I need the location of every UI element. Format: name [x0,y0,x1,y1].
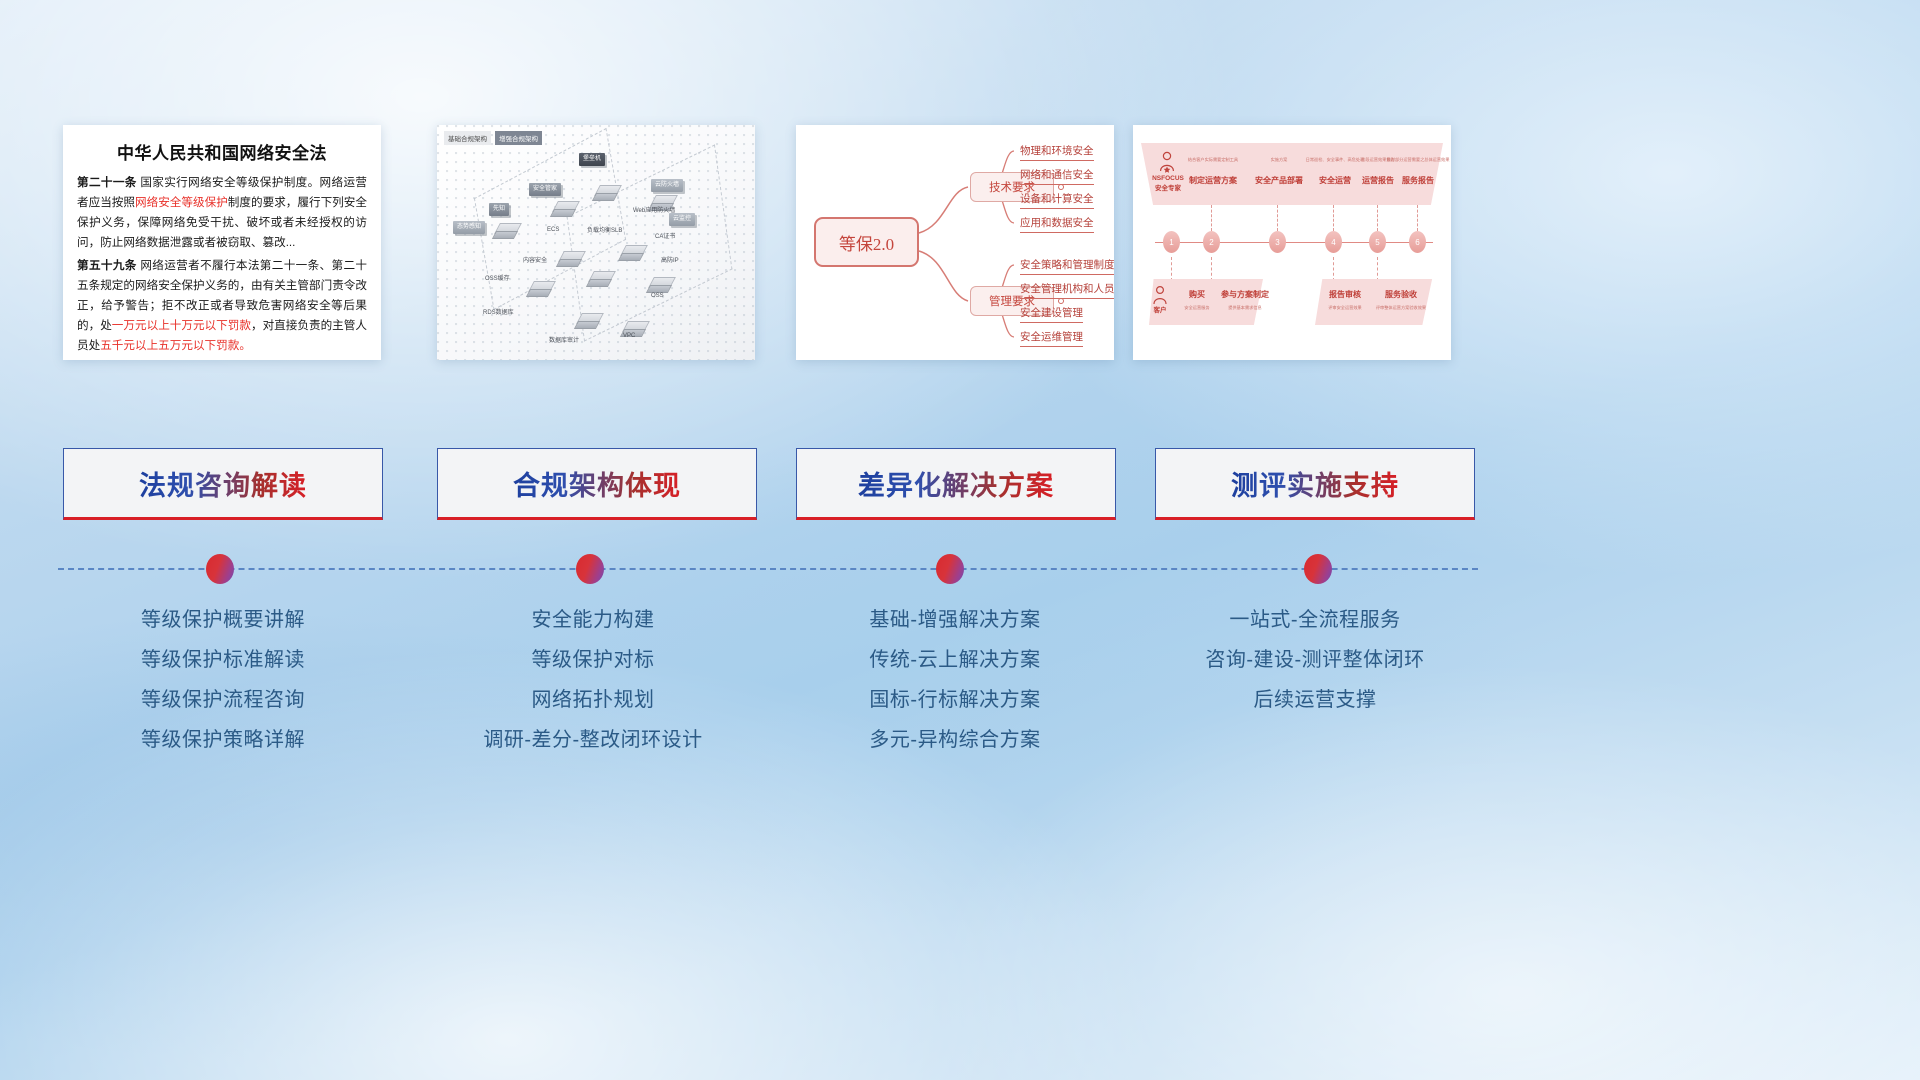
list-item: 多元-异构综合方案 [790,720,1120,760]
flow-stem-1 [1211,205,1212,231]
law-title: 中华人民共和国网络安全法 [77,139,367,164]
header-label: 法规咨询解读 [139,464,307,503]
architecture-diagram: 基础合规架构 增强合规架构 堡垒机 安全管家 先知 态势感知 云防火墙 云监控 … [437,125,755,360]
architecture-tab-enhanced[interactable]: 增强合规架构 [495,131,542,145]
list-item: 安全能力构建 [423,600,763,640]
flow-step-marker-6: 6 [1409,231,1426,253]
mindmap-leaf-application-data: 应用和数据安全 [1020,215,1094,233]
timeline-dot-1[interactable] [206,554,234,584]
timeline-dot-3[interactable] [936,554,964,584]
architecture-node-cloud-firewall: 云防火墙 [651,179,683,192]
architecture-tab-basic[interactable]: 基础合规架构 [444,131,491,145]
detail-column-3: 基础-增强解决方案 传统-云上解决方案 国标-行标解决方案 多元-异构综合方案 [790,600,1120,760]
list-item: 等级保护标准解读 [63,640,383,680]
flow-bottom-main-3: 报告审核 [1321,289,1369,300]
header-box-regulation-consulting[interactable]: 法规咨询解读 [63,448,383,520]
mindmap-leaf-construction-mgmt: 安全建设管理 [1020,305,1083,323]
mindmap-leaf-policy-system: 安全策略和管理制度 [1020,257,1114,275]
flow-bottom-sub-4: 评审整体运营方案验收效果 [1371,305,1431,311]
list-item: 咨询-建设-测评整体闭环 [1145,640,1485,680]
list-item: 等级保护流程咨询 [63,680,383,720]
architecture-node-security-butler: 安全管家 [529,183,561,196]
list-item: 国标-行标解决方案 [790,680,1120,720]
timeline-dot-2[interactable] [576,554,604,584]
architecture-label-gaofang-ip: 高防IP [661,255,679,264]
detail-column-4: 一站式-全流程服务 咨询-建设-测评整体闭环 后续运营支撑 [1145,600,1485,720]
flow-step-marker-2: 2 [1203,231,1220,253]
section-header-row: 法规咨询解读 合规架构体现 差异化解决方案 测评实施支持 [0,448,1920,520]
list-item: 等级保护对标 [423,640,763,680]
mindmap-leaf-ops-mgmt: 安全运维管理 [1020,329,1083,347]
flow-step-main-5: 服务报告 [1385,175,1451,186]
card-mbl-mindmap: 等保2.0 技术要求 物理和环境安全 网络和通信安全 设备和计算安全 应用和数据… [796,125,1114,360]
architecture-label-oss-cache: OSS缓存 [485,273,510,282]
architecture-node-xianzhi: 先知 [489,203,509,216]
law-paragraph-21: 第二十一条 国家实行网络安全等级保护制度。网络运营者应当按照网络安全等级保护制度… [77,173,367,253]
list-item: 后续运营支撑 [1145,680,1485,720]
timeline-dashed-line [58,568,1478,570]
flow-stem-2 [1277,205,1278,231]
architecture-label-ca: CA证书 [655,231,675,240]
architecture-label-waf: Web应用防火墙 [633,205,675,214]
flow-band-review [1315,279,1437,325]
illustration-card-row: 中华人民共和国网络安全法 第二十一条 国家实行网络安全等级保护制度。网络运营者应… [0,125,1920,365]
nsfocus-flow-diagram: NSFOCUS 安全专家 结合客户实际需要定制工具 制定运营方案 实施方案 安全… [1133,125,1451,360]
architecture-cube-5 [561,251,583,269]
architecture-cube-2 [497,223,519,241]
list-item: 调研-差分-整改闭环设计 [423,720,763,760]
flow-band-expert [1141,143,1443,205]
customer-label: 客户 [1143,307,1177,315]
flow-step-sub-5: 临时部分运营需要之总体运营效果 [1381,157,1451,163]
flow-step-marker-4: 4 [1325,231,1342,253]
law-article-label: 第二十一条 [77,176,137,189]
mindmap-leaf-org-personnel: 安全管理机构和人员 [1020,281,1114,299]
flow-stem-6 [1171,257,1172,281]
timeline [0,552,1920,592]
flow-stem-4 [1377,205,1378,231]
law-run-highlight: 一万元以上十万元以下罚款 [112,319,251,332]
architecture-cube-8 [623,245,645,263]
flow-stem-9 [1377,257,1378,281]
customer-person-icon [1151,285,1169,307]
flow-step-main-1: 制定运营方案 [1177,175,1249,186]
flow-stem-8 [1333,257,1334,281]
flow-bottom-main-4: 服务验收 [1377,289,1425,300]
law-paragraph-59: 第五十九条 网络运营者不履行本法第二十一条、第二十五条规定的网络安全保护义务的，… [77,256,367,356]
law-article-label: 第五十九条 [77,259,137,272]
architecture-cube-1 [555,201,577,219]
mindmap-leaf-physical-environment: 物理和环境安全 [1020,143,1094,161]
header-box-differentiated-solution[interactable]: 差异化解决方案 [796,448,1116,520]
flow-axis-line [1155,242,1433,243]
architecture-label-rds: RDS数据库 [483,307,514,316]
card-nsfocus-service-flow: NSFOCUS 安全专家 结合客户实际需要定制工具 制定运营方案 实施方案 安全… [1133,125,1451,360]
architecture-cube-7 [531,281,553,299]
flow-step-marker-3: 3 [1269,231,1286,253]
header-label: 测评实施支持 [1231,464,1399,503]
header-box-compliance-architecture[interactable]: 合规架构体现 [437,448,757,520]
card-compliance-architecture: 基础合规架构 增强合规架构 堡垒机 安全管家 先知 态势感知 云防火墙 云监控 … [437,125,755,360]
architecture-label-slb: 负载均衡SLB [587,225,622,234]
mindmap: 等保2.0 技术要求 物理和环境安全 网络和通信安全 设备和计算安全 应用和数据… [796,125,1114,360]
flow-step-sub-1: 结合客户实际需要定制工具 [1177,157,1249,163]
mindmap-leaf-device-computing: 设备和计算安全 [1020,191,1094,209]
architecture-label-vpc: VPC [623,333,635,339]
architecture-label-ecs: ECS [547,227,559,233]
list-item: 网络拓扑规划 [423,680,763,720]
flow-bottom-main-1: 购买 [1177,289,1217,300]
law-run-highlight: 五千元以上五万元以下罚款。 [100,339,251,352]
list-item: 传统-云上解决方案 [790,640,1120,680]
list-item: 基础-增强解决方案 [790,600,1120,640]
flow-stem-3 [1333,205,1334,231]
flow-stem-5 [1417,205,1418,231]
flow-bottom-sub-1: 安全运营服务 [1173,305,1221,311]
flow-bottom-main-2: 参与方案制定 [1219,289,1271,300]
header-label: 差异化解决方案 [858,464,1054,503]
architecture-label-oss: OSS [651,293,664,299]
expert-person-icon [1157,151,1177,175]
timeline-dot-4[interactable] [1304,554,1332,584]
architecture-label-content-security: 内容安全 [523,255,547,264]
architecture-node-bastion: 堡垒机 [579,153,605,166]
list-item: 一站式-全流程服务 [1145,600,1485,640]
header-label: 合规架构体现 [513,464,681,503]
law-document: 中华人民共和国网络安全法 第二十一条 国家实行网络安全等级保护制度。网络运营者应… [63,125,381,355]
detail-list-row: 等级保护概要讲解 等级保护标准解读 等级保护流程咨询 等级保护策略详解 安全能力… [0,600,1920,820]
brand-label-expert: 安全专家 [1145,185,1191,193]
mindmap-center-node: 等保2.0 [814,217,919,267]
flow-bottom-sub-2: 提供基本需求信息 [1217,305,1273,311]
architecture-label-db-audit: 数据库审计 [549,335,579,344]
mindmap-leaf-network-communication: 网络和通信安全 [1020,167,1094,185]
detail-column-1: 等级保护概要讲解 等级保护标准解读 等级保护流程咨询 等级保护策略详解 [63,600,383,760]
law-run-highlight: 网络安全等级保护 [135,196,228,209]
list-item: 等级保护策略详解 [63,720,383,760]
flow-stem-7 [1211,257,1212,281]
flow-step-marker-5: 5 [1369,231,1386,253]
header-box-assessment-support[interactable]: 测评实施支持 [1155,448,1475,520]
architecture-cube-3 [597,185,619,203]
flow-bottom-sub-3: 评审安全运营效果 [1317,305,1373,311]
card-cybersecurity-law: 中华人民共和国网络安全法 第二十一条 国家实行网络安全等级保护制度。网络运营者应… [63,125,381,360]
flow-step-marker-1: 1 [1163,231,1180,253]
list-item: 等级保护概要讲解 [63,600,383,640]
architecture-tab-group: 基础合规架构 增强合规架构 [444,131,542,145]
architecture-node-situational-awareness: 态势感知 [453,221,485,234]
detail-column-2: 安全能力构建 等级保护对标 网络拓扑规划 调研-差分-整改闭环设计 [423,600,763,760]
architecture-cube-10 [579,313,601,331]
architecture-cube-6 [591,271,613,289]
architecture-node-cloud-monitor: 云监控 [669,213,695,226]
